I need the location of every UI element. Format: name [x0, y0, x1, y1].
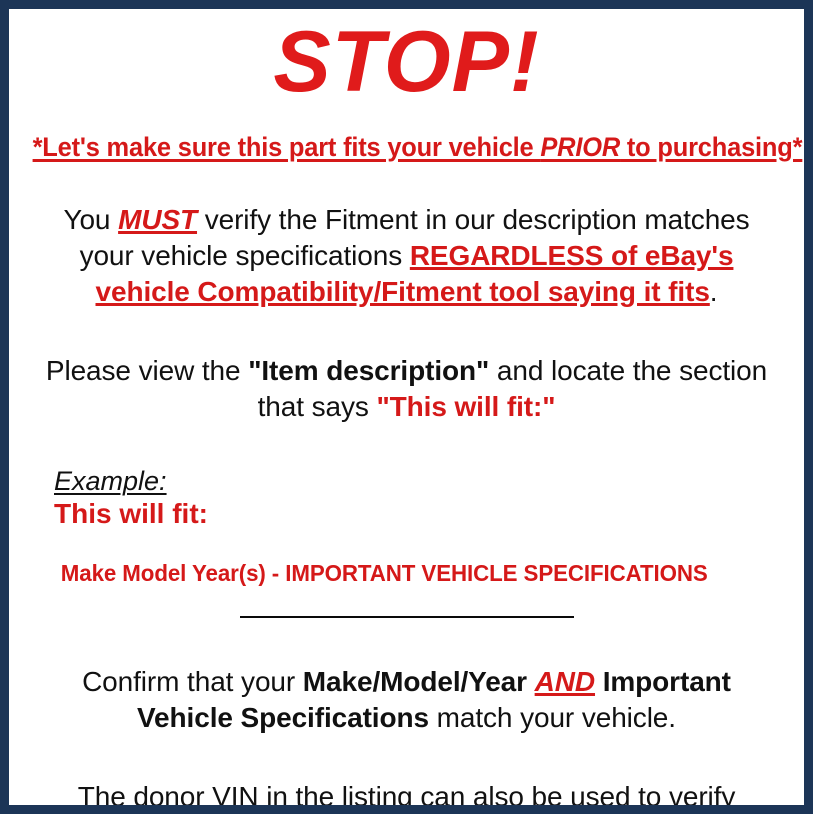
must-seg-5: .	[710, 276, 718, 307]
confirm-seg-1: Confirm that your	[82, 666, 303, 697]
example-label-row: Example:	[54, 467, 796, 495]
confirm-seg-5	[595, 666, 603, 697]
divider-wrapper	[17, 614, 796, 618]
this-will-fit-quote: "This will fit:"	[376, 391, 555, 422]
confirm-seg-3	[527, 666, 535, 697]
subtitle-part-1: *Let's make sure this part fits your veh…	[33, 132, 541, 162]
please-seg-1: Please view the	[46, 355, 248, 386]
example-label: Example:	[54, 467, 167, 495]
example-block: Example: This will fit: Make Model Year(…	[17, 467, 796, 586]
must-seg-1: You	[63, 204, 118, 235]
example-spec-line: Make Model Year(s) - IMPORTANT VEHICLE S…	[54, 561, 774, 586]
subtitle-prior-emphasis: PRIOR	[540, 132, 620, 162]
paragraph-confirm: Confirm that your Make/Model/Year AND Im…	[17, 664, 796, 736]
paragraph-donor-vin: The donor VIN in the listing can also be…	[17, 779, 796, 814]
subtitle-part-3: to purchasing*	[620, 132, 802, 162]
example-this-will-fit: This will fit:	[54, 498, 796, 530]
and-emphasis: AND	[535, 666, 595, 697]
horizontal-divider	[240, 616, 574, 618]
must-emphasis: MUST	[118, 204, 197, 235]
confirm-seg-7: match your vehicle.	[429, 702, 676, 733]
paragraph-must-verify: You MUST verify the Fitment in our descr…	[17, 202, 796, 309]
notice-content: STOP! *Let's make sure this part fits yo…	[9, 9, 804, 805]
subtitle-text: *Let's make sure this part fits your veh…	[33, 132, 803, 162]
stop-heading: STOP!	[17, 19, 796, 107]
subtitle-line: *Let's make sure this part fits your veh…	[33, 133, 781, 162]
paragraph-please-view: Please view the "Item description" and l…	[17, 353, 796, 425]
fitment-notice-card: STOP! *Let's make sure this part fits yo…	[0, 0, 813, 814]
item-description-emphasis: "Item description"	[248, 355, 489, 386]
make-model-year-emphasis: Make/Model/Year	[303, 666, 527, 697]
